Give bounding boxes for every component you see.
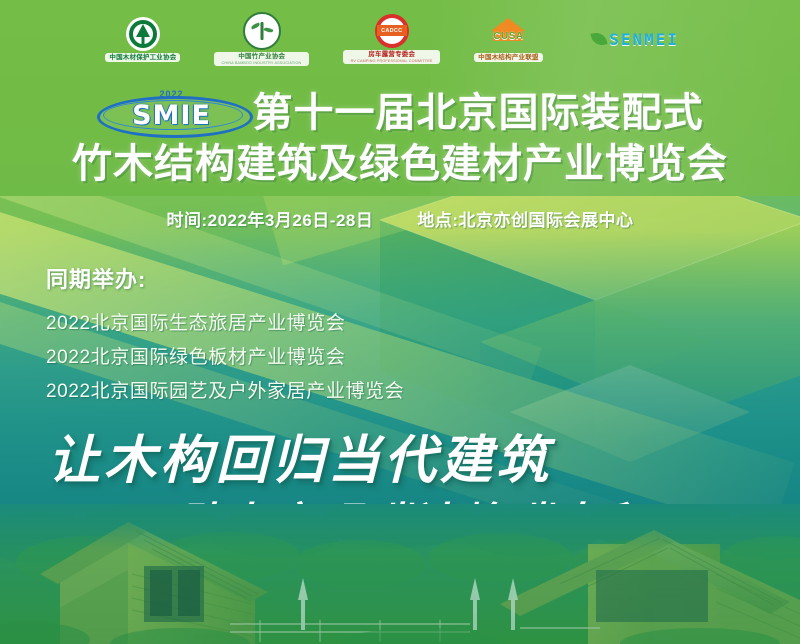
list-item: 2022北京国际园艺及户外家居产业博览会	[46, 375, 404, 409]
concurrent-events-heading: 同期举办:	[46, 262, 404, 294]
logo-cadcc: CADCC 房车露营专委会 RV CAMPING PROFESSIONAL CO…	[343, 14, 440, 64]
concurrent-events-list: 2022北京国际生态旅居产业博览会 2022北京国际绿色板材产业博览会 2022…	[46, 307, 404, 409]
logo-senmei: SENMEI	[577, 24, 695, 54]
wooden-cabin-photo	[0, 504, 800, 644]
title-first-row: 2022 SMIE 第十一届北京国际装配式	[0, 88, 800, 138]
tree-in-ring-icon	[126, 17, 160, 51]
event-meta: 时间:2022年3月26日-28日 地点:北京亦创国际会展中心	[0, 206, 800, 231]
smie-wordmark: SMIE	[97, 100, 247, 131]
exhibition-poster: 中国木材保护工业协会 中国竹产业协会 CHINA BAMBOO INDUSTRY…	[0, 0, 800, 644]
senmei-leaf-wordmark-icon: SENMEI	[577, 24, 695, 54]
logo-cusa: CUSA 中国木结构产业联盟	[474, 17, 542, 62]
smie-logo: 2022 SMIE	[97, 88, 247, 138]
smie-year: 2022	[97, 89, 247, 99]
page-title-line-2: 竹木结构建筑及绿色建材产业博览会	[0, 140, 800, 188]
cadcc-badge-icon: CADCC	[375, 14, 409, 48]
page-title-line-1: 第十一届北京国际装配式	[253, 89, 704, 137]
cusa-wordmark: CUSA	[482, 31, 534, 42]
logo-china-bamboo-association: 中国竹产业协会 CHINA BAMBOO INDUSTRY ASSOCIATIO…	[214, 12, 309, 66]
logo-caption: 中国木材保护工业协会	[105, 53, 180, 62]
leaf-icon	[591, 30, 608, 47]
logo-caption: 中国竹产业协会 CHINA BAMBOO INDUSTRY ASSOCIATIO…	[214, 52, 309, 66]
cadcc-badge-text: CADCC	[377, 25, 407, 36]
list-item: 2022北京国际绿色板材产业博览会	[46, 341, 404, 375]
title-block: 2022 SMIE 第十一届北京国际装配式 竹木结构建筑及绿色建材产业博览会	[0, 88, 800, 188]
photo-green-tint	[0, 504, 800, 644]
bamboo-seal-icon	[243, 12, 281, 50]
slogan-line-1: 让木构回归当代建筑	[48, 418, 552, 493]
concurrent-events-block: 同期举办: 2022北京国际生态旅居产业博览会 2022北京国际绿色板材产业博览…	[46, 262, 404, 409]
cusa-house-icon: CUSA	[482, 17, 534, 51]
event-date: 时间:2022年3月26日-28日	[166, 206, 373, 231]
logo-caption: 房车露营专委会 RV CAMPING PROFESSIONAL COMMITTE…	[343, 50, 440, 64]
event-venue: 地点:北京亦创国际会展中心	[417, 206, 633, 231]
logo-china-wood-protection: 中国木材保护工业协会	[105, 17, 180, 62]
sponsor-logo-strip: 中国木材保护工业协会 中国竹产业协会 CHINA BAMBOO INDUSTRY…	[0, 0, 800, 78]
list-item: 2022北京国际生态旅居产业博览会	[46, 307, 404, 341]
logo-caption: 中国木结构产业联盟	[474, 53, 542, 62]
senmei-wordmark: SENMEI	[609, 30, 679, 49]
